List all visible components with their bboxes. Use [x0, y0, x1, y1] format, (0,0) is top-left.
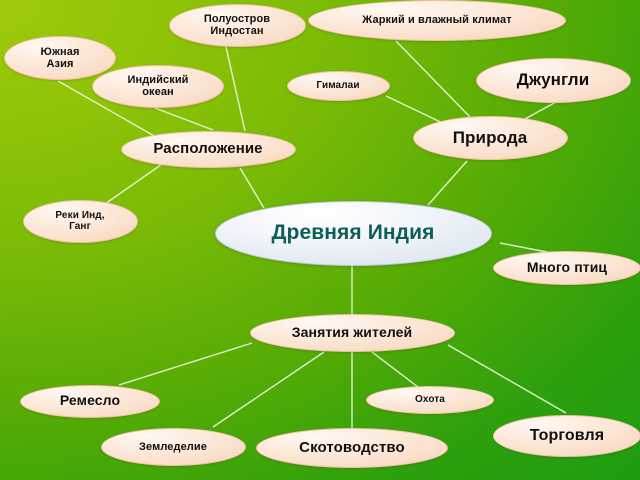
branch-node-torgovlya[interactable]: Торговля	[493, 415, 640, 457]
branch-node-mnogo-ptits[interactable]: Много птиц	[493, 251, 640, 285]
connector-zanyatiya-to-zemledelie	[213, 352, 324, 427]
branch-node-zanyatiya[interactable]: Занятия жителей	[250, 314, 455, 352]
connector-priroda-to-dzhungli	[523, 102, 556, 120]
node-label: Джунгли	[517, 70, 590, 89]
branch-node-skotovodstvo[interactable]: Скотоводство	[256, 428, 448, 468]
node-label: Скотоводство	[299, 440, 405, 457]
branch-node-zemledelie[interactable]: Земледелие	[101, 428, 246, 466]
branch-node-raspolozhenie[interactable]: Расположение	[121, 131, 296, 168]
mindmap-canvas: Древняя ИндияРасположениеЮжная АзияПолуо…	[0, 0, 640, 480]
node-label: Индийский океан	[127, 74, 188, 99]
branch-node-gimalai[interactable]: Гималаи	[287, 71, 390, 101]
node-label: Торговля	[530, 427, 604, 445]
branch-node-reki[interactable]: Реки Инд, Ганг	[23, 200, 138, 243]
branch-node-yuzhnaya-aziya[interactable]: Южная Азия	[4, 36, 116, 80]
node-label: Южная Азия	[41, 46, 80, 71]
node-label: Ремесло	[60, 393, 120, 409]
node-label: Земледелие	[139, 441, 207, 453]
connector-raspolozhenie-to-indiyskiy	[155, 108, 213, 130]
node-label: Полуостров Индостан	[204, 13, 270, 38]
node-label: Жаркий и влажный климат	[362, 14, 511, 26]
branch-node-klimat[interactable]: Жаркий и влажный климат	[308, 0, 566, 41]
connector-zanyatiya-to-ohota	[372, 352, 418, 387]
node-label: Реки Инд, Ганг	[55, 210, 104, 232]
branch-node-dzhungli[interactable]: Джунгли	[476, 58, 631, 103]
node-label: Охота	[415, 394, 445, 405]
node-label: Древняя Индия	[272, 221, 435, 245]
connector-center-to-priroda	[428, 161, 467, 205]
node-label: Природа	[453, 128, 528, 147]
node-label: Занятия жителей	[292, 325, 412, 341]
branch-node-poluostrov[interactable]: Полуостров Индостан	[169, 4, 306, 47]
branch-node-indiyskiy[interactable]: Индийский океан	[92, 65, 224, 108]
node-label: Расположение	[153, 141, 262, 158]
branch-node-priroda[interactable]: Природа	[413, 116, 568, 160]
connector-raspolozhenie-to-reki	[105, 162, 165, 204]
branch-node-remeslo[interactable]: Ремесло	[20, 385, 160, 418]
connector-center-to-raspolozhenie	[240, 168, 264, 208]
node-label: Много птиц	[527, 260, 607, 276]
branch-node-ohota[interactable]: Охота	[366, 386, 494, 414]
center-node-center[interactable]: Древняя Индия	[215, 201, 492, 266]
connector-center-to-mnogo-ptits	[500, 243, 547, 252]
connector-raspolozhenie-to-poluostrov	[226, 47, 245, 131]
connector-zanyatiya-to-remeslo	[119, 343, 252, 385]
node-label: Гималаи	[316, 80, 359, 91]
